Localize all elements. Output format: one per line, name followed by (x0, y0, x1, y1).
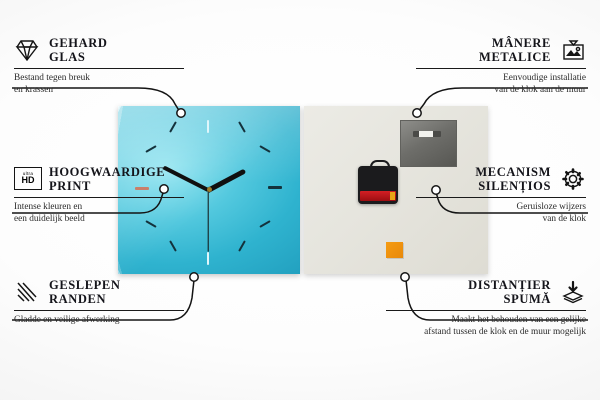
callout-title-line1: GEHARD (49, 36, 107, 50)
picture-frame-icon (560, 38, 586, 62)
callout-title-line1: GESLEPEN (49, 278, 121, 292)
clock-second-hand (207, 190, 208, 252)
callout-mecanism-silentios: MECANISM SILENȚIOS Geruisloze wijzers va… (416, 165, 586, 225)
clock-tick (207, 252, 209, 265)
callout-sub-line1: Intense kleuren en (14, 202, 184, 214)
callout-title-line1: MECANISM (475, 165, 551, 179)
callout-rule (386, 310, 586, 311)
callout-sub-line2: afstand tussen de klok en de muur mogeli… (386, 327, 586, 339)
callout-rule (416, 68, 586, 69)
callout-title-line1: HOOGWAARDIGE (49, 165, 165, 179)
clock-tick (207, 120, 209, 133)
callout-sub-line2: van de klok aan de muur (416, 85, 586, 97)
callout-title-line2: METALICE (479, 50, 551, 64)
callout-header: DISTANȚIER SPUMĂ (386, 278, 586, 306)
mechanism-hook (370, 160, 390, 171)
callout-header: GEHARD GLAS (14, 36, 184, 64)
callout-header: ultra HD HOOGWAARDIGE PRINT (14, 165, 184, 193)
callout-title-line1: MÂNERE (479, 36, 551, 50)
callout-title-line2: SPUMĂ (468, 292, 551, 306)
hanger-slot (413, 131, 441, 137)
infographic-canvas: GEHARD GLAS Bestand tegen breuk en krass… (0, 0, 600, 400)
callout-sub-line1: Eenvoudige installatie (416, 73, 586, 85)
clock-center-hub (207, 187, 212, 192)
callout-rule (416, 197, 586, 198)
spacer-arrow-icon (560, 280, 586, 304)
callout-distantier-spuma: DISTANȚIER SPUMĂ Maakt het behouden van … (386, 278, 586, 338)
battery-terminal (390, 192, 395, 200)
metal-hanger-part (400, 120, 457, 167)
callout-rule (14, 68, 184, 69)
diamond-icon (14, 38, 40, 62)
callout-title-line1: DISTANȚIER (468, 278, 551, 292)
callout-title-line2: RANDEN (49, 292, 121, 306)
bevelled-edges-icon (14, 280, 40, 304)
ultra-hd-icon: ultra HD (14, 167, 40, 191)
callout-sub-line1: Gladde en veilige afwerking (14, 315, 184, 327)
foam-spacer-part (386, 242, 403, 258)
callout-sub-line1: Maakt het behouden van een gelijke (386, 315, 586, 327)
clock-mechanism-part (358, 166, 398, 204)
callout-manere-metalice: MÂNERE METALICE Eenvoudige installatie v… (416, 36, 586, 96)
callout-sub-line2: van de klok (416, 214, 586, 226)
marker-dot-geslepen-randen (190, 273, 198, 281)
callout-sub-line2: een duidelijk beeld (14, 214, 184, 226)
callout-gehard-glas: GEHARD GLAS Bestand tegen breuk en krass… (14, 36, 184, 96)
callout-rule (14, 310, 184, 311)
callout-title-line2: SILENȚIOS (475, 179, 551, 193)
callout-rule (14, 197, 184, 198)
callout-header: MÂNERE METALICE (416, 36, 586, 64)
callout-header: MECANISM SILENȚIOS (416, 165, 586, 193)
clock-tick (268, 186, 282, 189)
callout-title-line2: GLAS (49, 50, 107, 64)
callout-hoogwaardige-print: ultra HD HOOGWAARDIGE PRINT Intense kleu… (14, 165, 184, 225)
gear-icon (560, 167, 586, 191)
callout-sub-line1: Bestand tegen breuk (14, 73, 184, 85)
callout-sub-line1: Geruisloze wijzers (416, 202, 586, 214)
callout-title-line2: PRINT (49, 179, 165, 193)
callout-sub-line2: en krassen (14, 85, 184, 97)
callout-geslepen-randen: GESLEPEN RANDEN Gladde en veilige afwerk… (14, 278, 184, 327)
battery (360, 191, 396, 201)
hd-label: HD (22, 176, 35, 185)
callout-header: GESLEPEN RANDEN (14, 278, 184, 306)
